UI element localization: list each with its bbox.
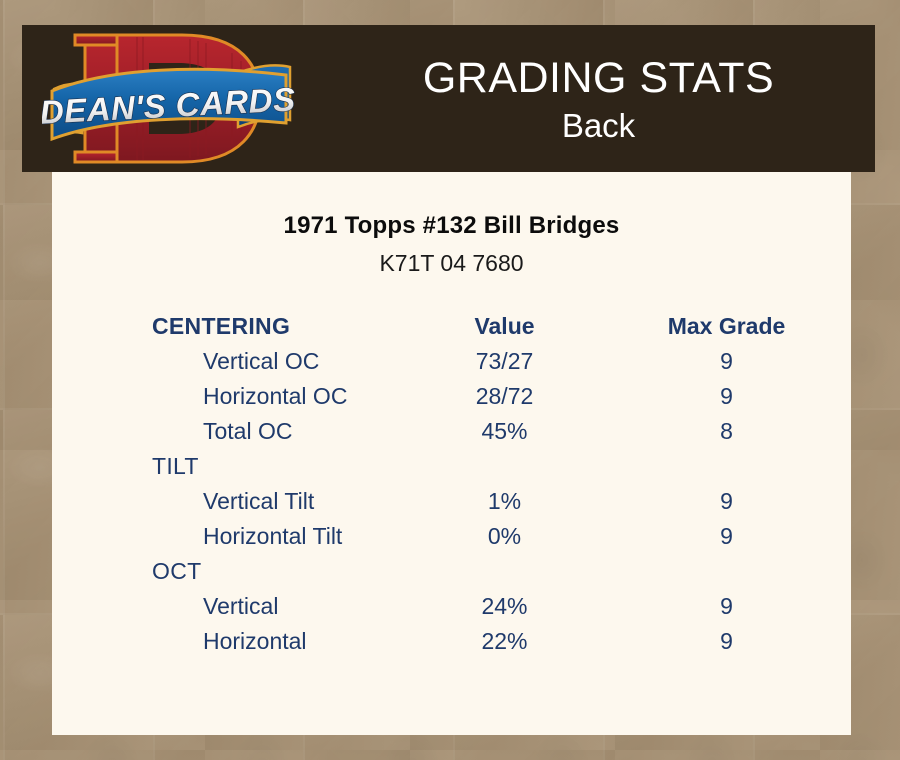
row-label: Vertical Tilt [52, 484, 407, 519]
table-row: Vertical24%9 [52, 589, 851, 624]
content-panel: 1971 Topps #132 Bill Bridges K71T 04 768… [52, 172, 851, 735]
table-body: Vertical OC73/279Horizontal OC28/729Tota… [52, 344, 851, 659]
page-title: GRADING STATS [423, 56, 774, 101]
row-label: Horizontal [52, 624, 407, 659]
table-row: Horizontal OC28/729 [52, 379, 851, 414]
table-row: Horizontal22%9 [52, 624, 851, 659]
table-row: Vertical OC73/279 [52, 344, 851, 379]
card-title: 1971 Topps #132 Bill Bridges [52, 212, 851, 240]
page-root: DEAN'S CARDS GRADING STATS Back 1971 Top… [0, 0, 900, 760]
row-label: Total OC [52, 414, 407, 449]
row-value: 0% [407, 519, 602, 554]
row-max-grade: 9 [602, 344, 851, 379]
grading-stats-table: CENTERING Value Max Grade Vertical OC73/… [52, 309, 851, 659]
row-label: Horizontal Tilt [52, 519, 407, 554]
header-title-block: GRADING STATS Back [322, 25, 875, 172]
column-header-value: Value [407, 309, 602, 344]
section-header-row: OCT [52, 554, 851, 589]
section-header-label: TILT [52, 449, 851, 484]
deans-cards-logo: DEAN'S CARDS [42, 27, 312, 170]
table-row: Horizontal Tilt0%9 [52, 519, 851, 554]
row-value: 45% [407, 414, 602, 449]
row-max-grade: 9 [602, 519, 851, 554]
row-max-grade: 9 [602, 589, 851, 624]
card-code: K71T 04 7680 [52, 250, 851, 277]
section-header-row: TILT [52, 449, 851, 484]
table-head: CENTERING Value Max Grade [52, 309, 851, 344]
row-max-grade: 8 [602, 414, 851, 449]
section-header-label: OCT [52, 554, 851, 589]
row-value: 28/72 [407, 379, 602, 414]
row-max-grade: 9 [602, 484, 851, 519]
table-header-row: CENTERING Value Max Grade [52, 309, 851, 344]
deans-cards-logo-icon: DEAN'S CARDS [42, 27, 312, 170]
row-max-grade: 9 [602, 624, 851, 659]
row-label: Vertical OC [52, 344, 407, 379]
row-value: 22% [407, 624, 602, 659]
row-label: Horizontal OC [52, 379, 407, 414]
row-value: 73/27 [407, 344, 602, 379]
header-band: DEAN'S CARDS GRADING STATS Back [22, 25, 875, 172]
table-row: Vertical Tilt1%9 [52, 484, 851, 519]
column-header-section: CENTERING [52, 309, 407, 344]
column-header-max-grade: Max Grade [602, 309, 851, 344]
page-subtitle: Back [562, 105, 635, 146]
row-label: Vertical [52, 589, 407, 624]
row-value: 24% [407, 589, 602, 624]
table-row: Total OC45%8 [52, 414, 851, 449]
row-value: 1% [407, 484, 602, 519]
row-max-grade: 9 [602, 379, 851, 414]
